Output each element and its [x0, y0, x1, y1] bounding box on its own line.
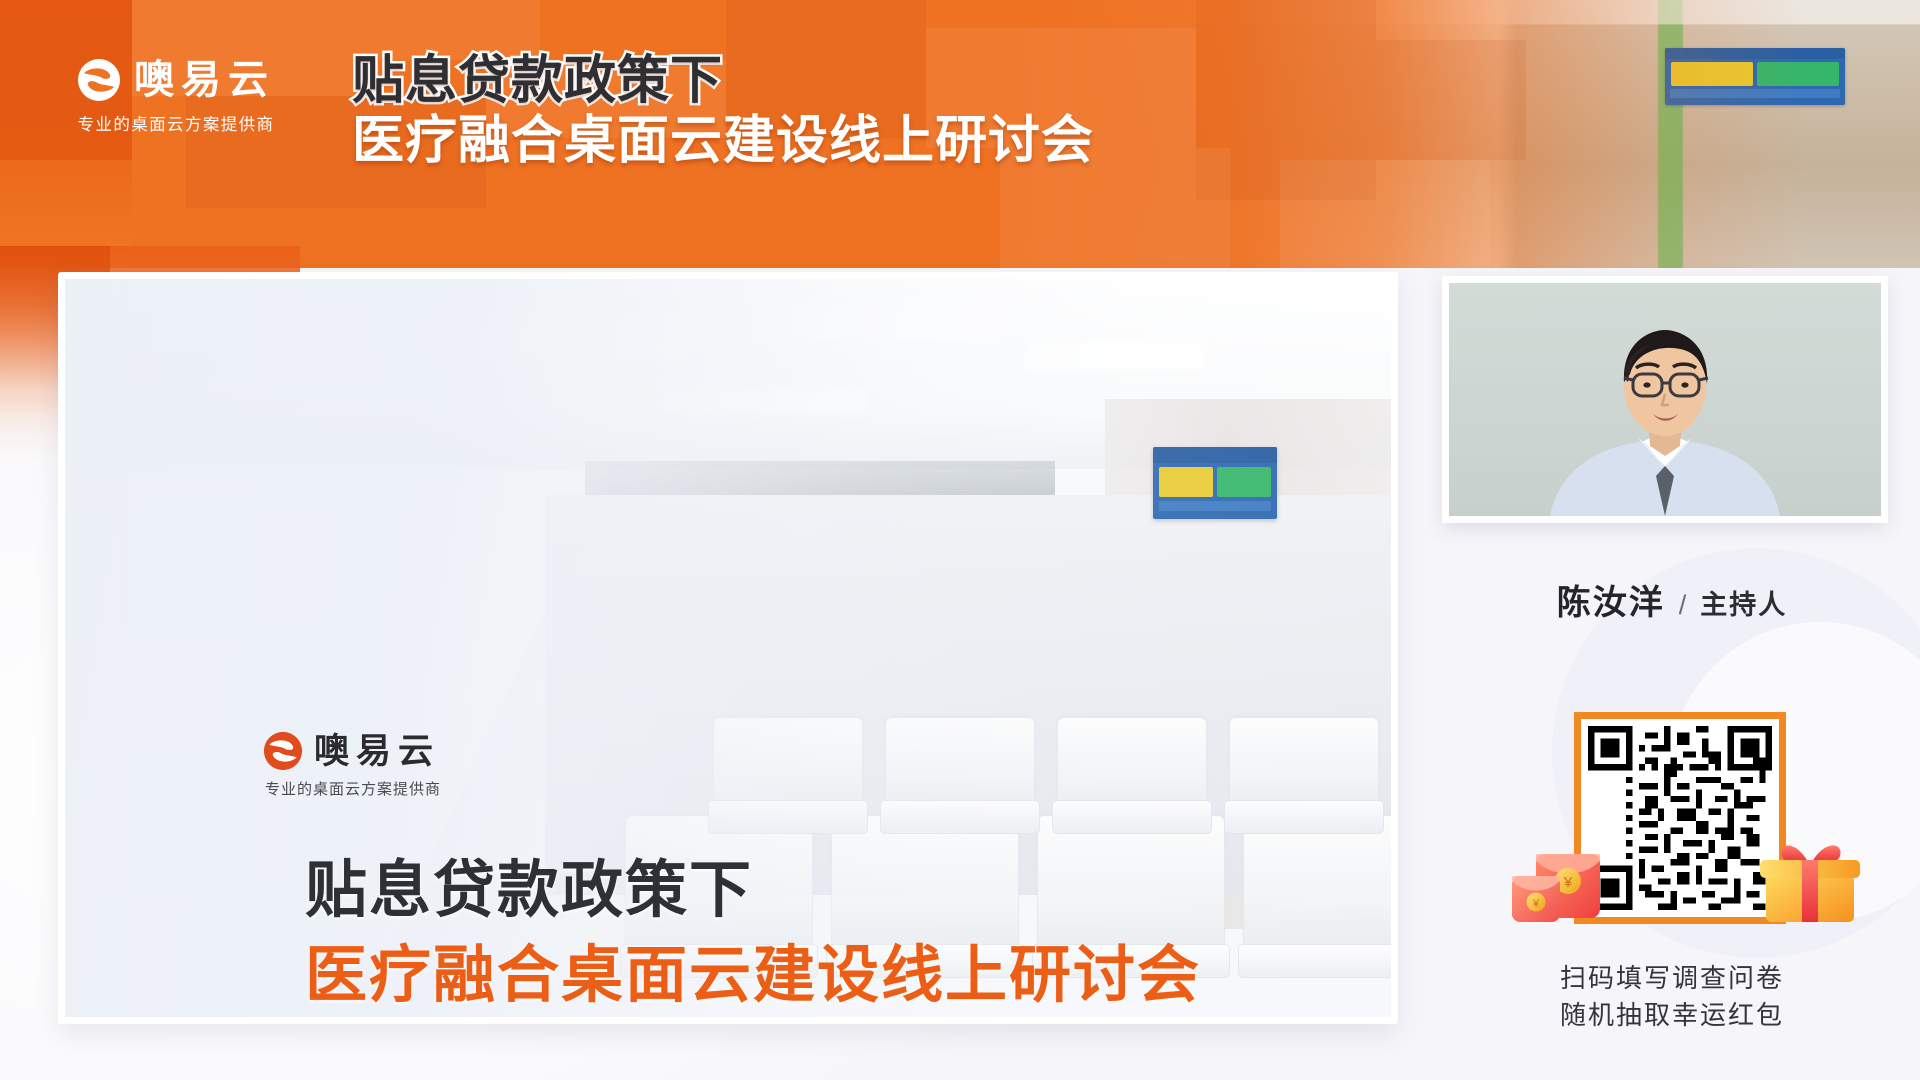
- qr-block[interactable]: ¥ ¥: [1574, 712, 1786, 924]
- right-sidebar: 陈汝洋 / 主持人: [1424, 0, 1920, 1080]
- slide-brand-tagline: 专业的桌面云方案提供商: [265, 778, 441, 799]
- header-title: 贴息贷款政策下 医疗融合桌面云建设线上研讨会: [352, 54, 1312, 168]
- avatar: [1520, 316, 1810, 516]
- header-deco-rect: [360, 0, 540, 60]
- presenter-name-row: 陈汝洋 / 主持人: [1424, 575, 1920, 624]
- presenter-video-feed[interactable]: [1442, 276, 1888, 523]
- presenter-name: 陈汝洋: [1557, 575, 1665, 624]
- svg-text:¥: ¥: [1532, 898, 1540, 910]
- presentation-slide[interactable]: 噢易云 专业的桌面云方案提供商 贴息贷款政策下 医疗融合桌面云建设线上研讨会: [58, 272, 1398, 1024]
- presenter-role: 主持人: [1700, 583, 1787, 622]
- presenter-separator: /: [1679, 590, 1687, 621]
- slide-title-line1: 贴息贷款政策下: [305, 839, 753, 929]
- gift-box-icon: [1756, 830, 1864, 926]
- svg-text:¥: ¥: [1563, 874, 1573, 891]
- qr-caption-line1: 扫码填写调查问卷: [1424, 960, 1920, 997]
- slide-title-line2: 医疗融合桌面云建设线上研讨会: [305, 924, 1201, 1014]
- swirl-circle-logo-icon: [77, 58, 121, 102]
- webinar-broadcast-screen: 噢易云 专业的桌面云方案提供商 贴息贷款政策下 医疗融合桌面云建设线上研讨会: [0, 0, 1920, 1080]
- brand-name: 噢易云: [134, 60, 275, 100]
- slide-brand-logo: 噢易云 专业的桌面云方案提供商: [263, 731, 441, 799]
- header-title-line1: 贴息贷款政策下: [352, 54, 1312, 108]
- slide-brand-name: 噢易云: [314, 734, 440, 769]
- red-envelope-icon: ¥ ¥: [1506, 832, 1610, 924]
- swirl-circle-logo-icon: [263, 731, 303, 771]
- qr-caption: 扫码填写调查问卷 随机抽取幸运红包: [1424, 960, 1920, 1034]
- header-title-line2: 医疗融合桌面云建设线上研讨会: [352, 114, 1312, 168]
- brand-logo: 噢易云 专业的桌面云方案提供商: [56, 58, 296, 135]
- qr-caption-line2: 随机抽取幸运红包: [1424, 997, 1920, 1034]
- brand-tagline: 专业的桌面云方案提供商: [56, 111, 296, 135]
